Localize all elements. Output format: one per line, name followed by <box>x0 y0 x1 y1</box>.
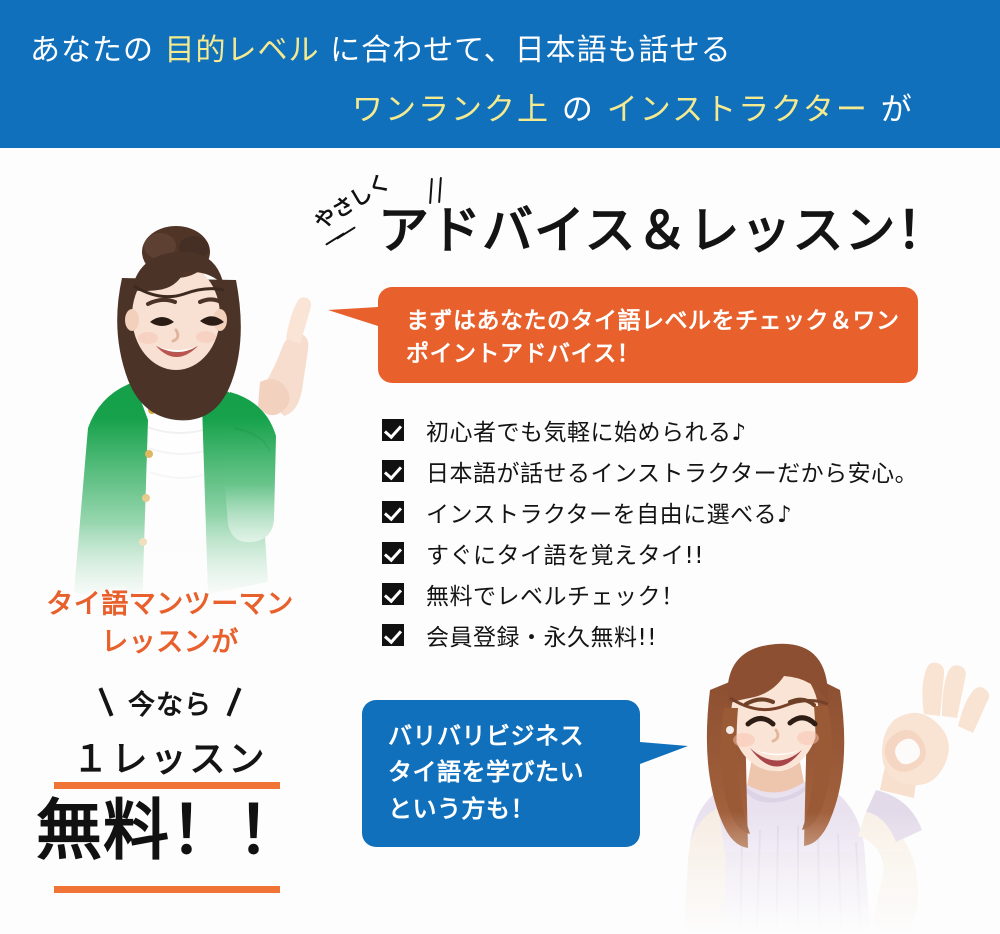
header-line2-seg2: の <box>550 92 607 128</box>
divider-top <box>54 782 280 789</box>
header-line2-seg1: ワンランク上 <box>352 92 550 128</box>
blue-bubble-line-1: バリバリビジネス <box>388 718 628 754</box>
list-item: 日本語が話せるインストラクターだから安心。 <box>382 450 922 491</box>
model-woman-green-cardigan-pointing <box>24 186 334 606</box>
blue-bubble-text: バリバリビジネス タイ語を学びたい という方も！ <box>388 718 628 827</box>
list-item: すぐにタイ語を覚えタイ!! <box>382 532 922 573</box>
slash-mark-right-1 <box>429 178 433 204</box>
one-lesson-label: １レッスン <box>0 730 340 782</box>
blue-speech-bubble: バリバリビジネス タイ語を学びたい という方も！ <box>362 700 640 847</box>
imanara-label: 今なら <box>128 683 212 722</box>
header-line1-seg2: 目的レベル <box>165 33 320 68</box>
orange-bubble-tail-icon <box>328 307 378 326</box>
slash-mark-left-icon <box>99 687 114 716</box>
list-item-label: インストラクターを自由に選べる♪ <box>426 495 792 529</box>
divider-bottom <box>54 886 280 893</box>
list-item-label: 初心者でも気軽に始められる♪ <box>426 413 747 447</box>
left-promo-caption-line1: タイ語マンツーマン <box>0 586 340 624</box>
checkbox-checked-icon <box>382 542 404 564</box>
promo-banner: あなたの 目的レベル に合わせて、日本語も話せる ワンランク上 の インストラク… <box>0 0 1000 934</box>
checkbox-checked-icon <box>382 624 404 646</box>
page-title: アドバイス＆レッスン！ <box>378 205 948 259</box>
slash-mark-left-2 <box>336 226 356 239</box>
model-woman-ok-sign <box>680 612 1000 934</box>
list-item-label: 日本語が話せるインストラクターだから安心。 <box>426 454 918 488</box>
blue-bubble-line-3: という方も！ <box>388 791 628 827</box>
free-price-label: 無料！！ <box>0 795 340 868</box>
list-item: 無料でレベルチェック！ <box>382 573 922 614</box>
header-line1-seg1: あなたの <box>30 33 165 68</box>
list-item: インストラクターを自由に選べる♪ <box>382 491 922 532</box>
checkbox-checked-icon <box>382 419 404 441</box>
checkbox-checked-icon <box>382 583 404 605</box>
header-band: あなたの 目的レベル に合わせて、日本語も話せる ワンランク上 の インストラク… <box>0 0 1000 148</box>
imanara-text: 今なら <box>128 690 212 721</box>
orange-speech-bubble: まずはあなたのタイ語レベルをチェック＆ワンポイントアドバイス！ <box>378 287 918 383</box>
checkbox-checked-icon <box>382 501 404 523</box>
left-promo-caption: タイ語マンツーマン レッスンが <box>0 586 340 663</box>
imanara-badge: 今なら <box>0 683 340 722</box>
left-promo-caption-line2: レッスンが <box>0 624 340 662</box>
header-headline-line-2: ワンランク上 の インストラクター が <box>352 95 914 126</box>
slash-mark-right-2 <box>438 177 442 203</box>
header-headline-line-1: あなたの 目的レベル に合わせて、日本語も話せる <box>30 36 732 66</box>
list-item-label: 会員登録・永久無料!! <box>426 618 657 652</box>
header-line2-seg4: が <box>869 92 914 128</box>
header-line2-seg3: インストラクター <box>607 92 869 128</box>
checkbox-checked-icon <box>382 460 404 482</box>
list-item-label: 無料でレベルチェック！ <box>426 577 685 611</box>
header-line1-seg3: に合わせて、日本語も話せる <box>320 33 732 68</box>
blue-bubble-line-2: タイ語を学びたい <box>388 754 628 790</box>
list-item: 初心者でも気軽に始められる♪ <box>382 409 922 450</box>
orange-bubble-text: まずはあなたのタイ語レベルをチェック＆ワンポイントアドバイス！ <box>406 305 906 372</box>
slash-mark-right-icon <box>227 687 242 716</box>
list-item-label: すぐにタイ語を覚えタイ!! <box>426 536 704 570</box>
